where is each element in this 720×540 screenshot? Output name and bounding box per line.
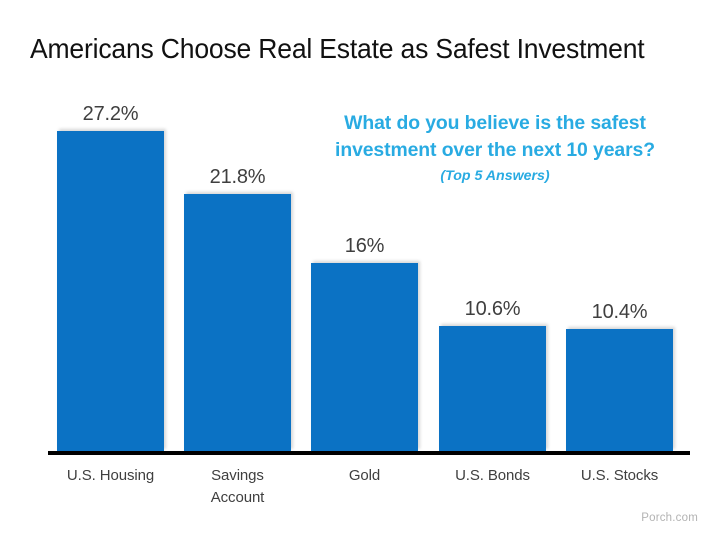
x-axis-label-us-housing: U.S. Housing — [43, 465, 178, 487]
bar-us-bonds[interactable] — [439, 326, 546, 451]
bar-group-us-stocks: 10.4% — [566, 85, 673, 451]
x-axis-label-line: U.S. Housing — [43, 465, 178, 487]
bar-savings-account[interactable] — [184, 194, 291, 451]
x-axis-label-line: Account — [170, 487, 305, 509]
x-axis-label-savings-account: Savings Account — [170, 465, 305, 509]
attribution-label: Porch.com — [641, 511, 698, 525]
bar-value-label: 27.2% — [39, 102, 182, 126]
bar-group-us-housing: 27.2% — [57, 85, 164, 451]
x-axis-line — [48, 451, 690, 455]
bar-group-us-bonds: 10.6% — [439, 85, 546, 451]
bar-us-housing[interactable] — [57, 131, 164, 451]
bar-value-label: 10.6% — [421, 297, 564, 321]
bar-group-gold: 16% — [311, 85, 418, 451]
x-axis-label-us-bonds: U.S. Bonds — [425, 465, 560, 487]
bar-value-label: 21.8% — [166, 165, 309, 189]
bar-value-label: 10.4% — [548, 300, 691, 324]
x-axis-label-line: U.S. Stocks — [552, 465, 687, 487]
bar-gold[interactable] — [311, 263, 418, 451]
bar-chart-plot: 27.2% 21.8% 16% 10.6% 10.4% U.S. Housing… — [0, 0, 720, 540]
x-axis-label-gold: Gold — [297, 465, 432, 487]
x-axis-label-line: Gold — [297, 465, 432, 487]
bar-value-label: 16% — [293, 234, 436, 258]
x-axis-label-us-stocks: U.S. Stocks — [552, 465, 687, 487]
bar-us-stocks[interactable] — [566, 329, 673, 451]
bar-group-savings-account: 21.8% — [184, 85, 291, 451]
chart-slide: Americans Choose Real Estate as Safest I… — [0, 0, 720, 540]
x-axis-label-line: Savings — [170, 465, 305, 487]
x-axis-label-line: U.S. Bonds — [425, 465, 560, 487]
